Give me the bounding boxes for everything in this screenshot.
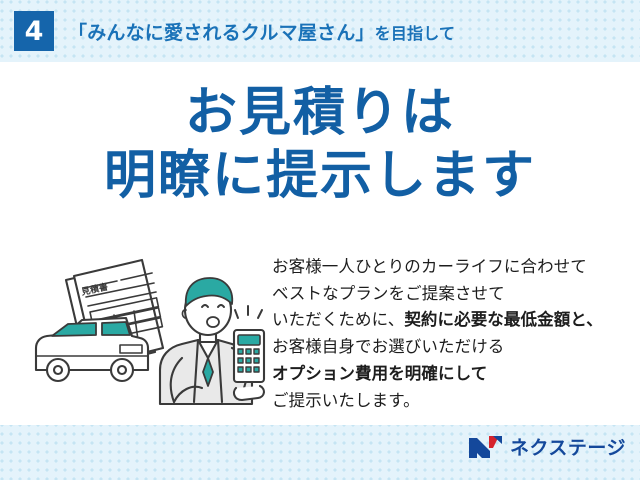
header-bar: 4 「みんなに愛されるクルマ屋さん」を目指して [0, 0, 640, 62]
headline: お見積りは 明瞭に提示します [0, 84, 640, 207]
promo-page: 4 「みんなに愛されるクルマ屋さん」を目指して お見積りは 明瞭に提示します お… [0, 0, 640, 480]
body-line-3: いただくために、契約に必要な最低金額と、 [272, 307, 632, 334]
body-line-4: お客様自身でお選びいただける [272, 334, 632, 361]
header-title-suffix: を目指して [375, 24, 456, 43]
body-line-3-emphasis: 契約に必要な最低金額と、 [404, 310, 603, 329]
body-line-5-emphasis: オプション費用を明確にして [272, 364, 487, 383]
body-line-2: ベストなプランをご提案させて [272, 281, 632, 308]
headline-line-2: 明瞭に提示します [0, 147, 640, 206]
step-number-badge: 4 [14, 11, 54, 51]
header-title-main: 「みんなに愛されるクルマ屋さん」 [68, 22, 375, 44]
salesman-quote-van-illustration: 見積書 [22, 252, 272, 417]
nextage-n-logo-icon [469, 435, 503, 459]
body-line-6: ご提示いたします。 [272, 388, 632, 415]
body-line-3-plain: いただくために、 [272, 310, 404, 329]
body-line-5: オプション費用を明確にして [272, 361, 632, 388]
brand-logo: ネクステージ [469, 433, 626, 460]
brand-name: ネクステージ [510, 433, 626, 460]
header-title: 「みんなに愛されるクルマ屋さん」を目指して [68, 18, 455, 45]
illustration: 見積書 [22, 252, 272, 417]
body-line-1: お客様一人ひとりのカーライフに合わせて [272, 254, 632, 281]
headline-line-1: お見積りは [0, 84, 640, 143]
calculator-icon [234, 330, 264, 382]
content-panel: お見積りは 明瞭に提示します お客様一人ひとりのカーライフに合わせて ベストなプ… [0, 62, 640, 425]
footer-bar: ネクステージ [0, 425, 640, 480]
body-copy: お客様一人ひとりのカーライフに合わせて ベストなプランをご提案させて いただくた… [272, 254, 632, 414]
sparkle-icon [235, 306, 262, 318]
